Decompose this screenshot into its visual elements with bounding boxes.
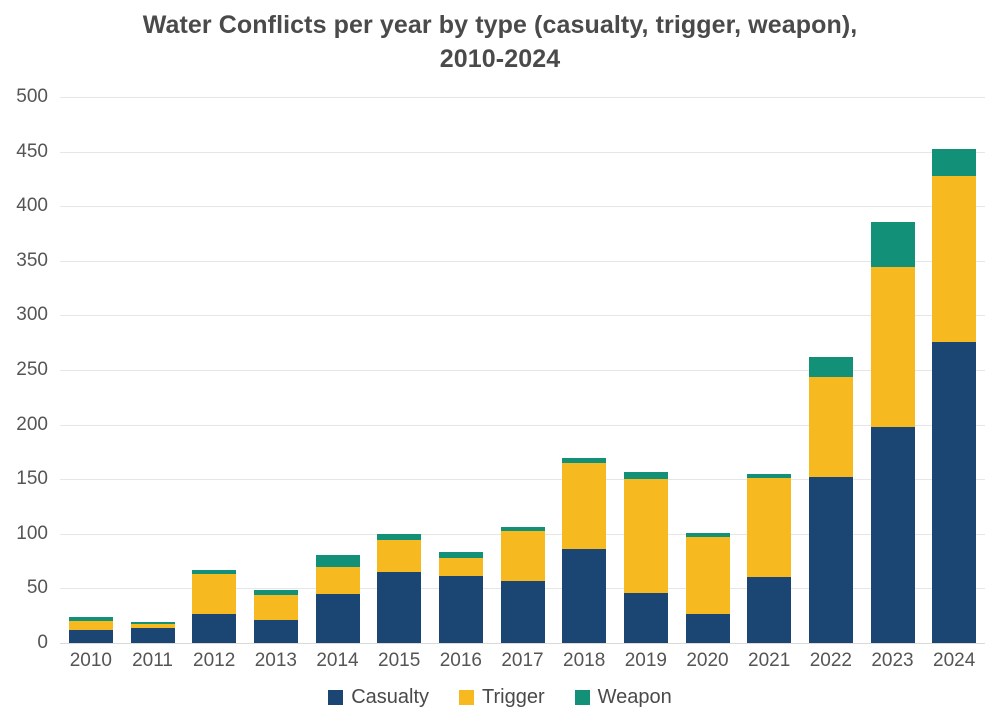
- legend-swatch-weapon: [575, 690, 590, 705]
- bar-group-2010[interactable]: [69, 617, 113, 643]
- bar-group-2015[interactable]: [377, 534, 421, 643]
- legend-label-trigger: Trigger: [482, 686, 545, 708]
- bar-segment-weapon-2024[interactable]: [932, 149, 976, 175]
- x-axis-tick-label: 2014: [303, 648, 373, 674]
- y-axis-tick-label: 0: [0, 633, 48, 653]
- bar-segment-casualty-2018[interactable]: [562, 549, 606, 643]
- y-axis-tick-label: 400: [0, 196, 48, 216]
- legend-item-casualty[interactable]: Casualty: [328, 686, 429, 708]
- y-axis-tick-label: 350: [0, 251, 48, 271]
- bar-segment-weapon-2011[interactable]: [131, 622, 175, 624]
- bar-segment-casualty-2023[interactable]: [871, 427, 915, 643]
- chart-legend: CasualtyTriggerWeapon: [0, 686, 1000, 708]
- bar-segment-trigger-2014[interactable]: [316, 567, 360, 594]
- bar-segment-trigger-2021[interactable]: [747, 478, 791, 577]
- bar-segment-trigger-2022[interactable]: [809, 377, 853, 477]
- y-axis-tick-label: 50: [0, 578, 48, 598]
- bar-segment-casualty-2016[interactable]: [439, 576, 483, 643]
- bar-group-2012[interactable]: [192, 570, 236, 643]
- bar-segment-casualty-2022[interactable]: [809, 477, 853, 643]
- bar-segment-casualty-2011[interactable]: [131, 628, 175, 643]
- legend-label-weapon: Weapon: [598, 686, 672, 708]
- x-axis-tick-label: 2022: [796, 648, 866, 674]
- bar-segment-trigger-2017[interactable]: [501, 531, 545, 581]
- bar-segment-casualty-2014[interactable]: [316, 594, 360, 643]
- bar-segment-trigger-2012[interactable]: [192, 574, 236, 613]
- bar-segment-weapon-2017[interactable]: [501, 527, 545, 530]
- bar-segment-casualty-2012[interactable]: [192, 614, 236, 643]
- bar-group-2023[interactable]: [871, 222, 915, 644]
- bar-group-2018[interactable]: [562, 458, 606, 643]
- bar-segment-casualty-2020[interactable]: [686, 614, 730, 643]
- bar-segment-trigger-2024[interactable]: [932, 176, 976, 342]
- bar-segment-weapon-2016[interactable]: [439, 552, 483, 557]
- y-axis-tick-label: 200: [0, 415, 48, 435]
- bar-segment-weapon-2010[interactable]: [69, 617, 113, 621]
- x-axis-tick-label: 2017: [488, 648, 558, 674]
- y-axis-tick-label: 150: [0, 469, 48, 489]
- bar-group-2017[interactable]: [501, 527, 545, 643]
- x-axis-tick-label: 2010: [56, 648, 126, 674]
- x-axis-tick-label: 2018: [549, 648, 619, 674]
- bar-segment-weapon-2018[interactable]: [562, 458, 606, 462]
- bar-segment-weapon-2015[interactable]: [377, 534, 421, 541]
- x-axis-tick-label: 2020: [673, 648, 743, 674]
- legend-swatch-casualty: [328, 690, 343, 705]
- gridline-0: [60, 643, 985, 644]
- bar-segment-trigger-2011[interactable]: [131, 624, 175, 627]
- x-axis: 2010201120122013201420152016201720182019…: [60, 648, 985, 678]
- chart-container: Water Conflicts per year by type (casual…: [0, 0, 1000, 725]
- x-axis-tick-label: 2023: [858, 648, 928, 674]
- legend-swatch-trigger: [459, 690, 474, 705]
- bar-segment-weapon-2014[interactable]: [316, 555, 360, 567]
- legend-item-trigger[interactable]: Trigger: [459, 686, 545, 708]
- bar-segment-trigger-2020[interactable]: [686, 537, 730, 613]
- bar-group-2024[interactable]: [932, 149, 976, 643]
- x-axis-tick-label: 2012: [179, 648, 249, 674]
- bar-segment-trigger-2010[interactable]: [69, 621, 113, 630]
- x-axis-tick-label: 2024: [919, 648, 989, 674]
- x-axis-tick-label: 2019: [611, 648, 681, 674]
- bar-segment-casualty-2017[interactable]: [501, 581, 545, 643]
- bar-group-2016[interactable]: [439, 552, 483, 643]
- plot-area: [60, 97, 985, 643]
- bar-segment-trigger-2023[interactable]: [871, 267, 915, 426]
- x-axis-tick-label: 2021: [734, 648, 804, 674]
- bar-segment-casualty-2013[interactable]: [254, 620, 298, 643]
- y-axis-tick-label: 250: [0, 360, 48, 380]
- bar-group-2014[interactable]: [316, 555, 360, 643]
- bar-segment-weapon-2021[interactable]: [747, 474, 791, 478]
- bar-group-2013[interactable]: [254, 590, 298, 644]
- x-axis-tick-label: 2011: [118, 648, 188, 674]
- bar-segment-weapon-2013[interactable]: [254, 590, 298, 595]
- bar-segment-trigger-2015[interactable]: [377, 540, 421, 572]
- y-axis-tick-label: 300: [0, 305, 48, 325]
- y-axis-tick-label: 450: [0, 142, 48, 162]
- bar-group-2019[interactable]: [624, 472, 668, 643]
- bar-segment-trigger-2013[interactable]: [254, 595, 298, 620]
- y-axis-tick-label: 500: [0, 87, 48, 107]
- bar-segment-weapon-2012[interactable]: [192, 570, 236, 574]
- bar-segment-trigger-2019[interactable]: [624, 479, 668, 593]
- legend-item-weapon[interactable]: Weapon: [575, 686, 672, 708]
- bar-segment-casualty-2015[interactable]: [377, 572, 421, 643]
- bar-segment-casualty-2021[interactable]: [747, 577, 791, 643]
- legend-label-casualty: Casualty: [351, 686, 429, 708]
- bar-segment-casualty-2019[interactable]: [624, 593, 668, 643]
- bar-group-2021[interactable]: [747, 474, 791, 643]
- chart-title: Water Conflicts per year by type (casual…: [0, 8, 1000, 76]
- bar-segment-trigger-2016[interactable]: [439, 558, 483, 577]
- bar-segment-weapon-2023[interactable]: [871, 222, 915, 268]
- bar-segment-weapon-2020[interactable]: [686, 533, 730, 537]
- bar-segment-casualty-2024[interactable]: [932, 342, 976, 643]
- x-axis-tick-label: 2015: [364, 648, 434, 674]
- y-axis-tick-label: 100: [0, 524, 48, 544]
- bar-series-group: [60, 97, 985, 643]
- y-axis: 050100150200250300350400450500: [0, 97, 48, 643]
- bar-segment-trigger-2018[interactable]: [562, 463, 606, 549]
- bar-segment-casualty-2010[interactable]: [69, 630, 113, 643]
- bar-group-2022[interactable]: [809, 357, 853, 643]
- bar-segment-weapon-2019[interactable]: [624, 472, 668, 480]
- bar-group-2011[interactable]: [131, 622, 175, 643]
- bar-group-2020[interactable]: [686, 533, 730, 643]
- x-axis-tick-label: 2016: [426, 648, 496, 674]
- x-axis-tick-label: 2013: [241, 648, 311, 674]
- bar-segment-weapon-2022[interactable]: [809, 357, 853, 377]
